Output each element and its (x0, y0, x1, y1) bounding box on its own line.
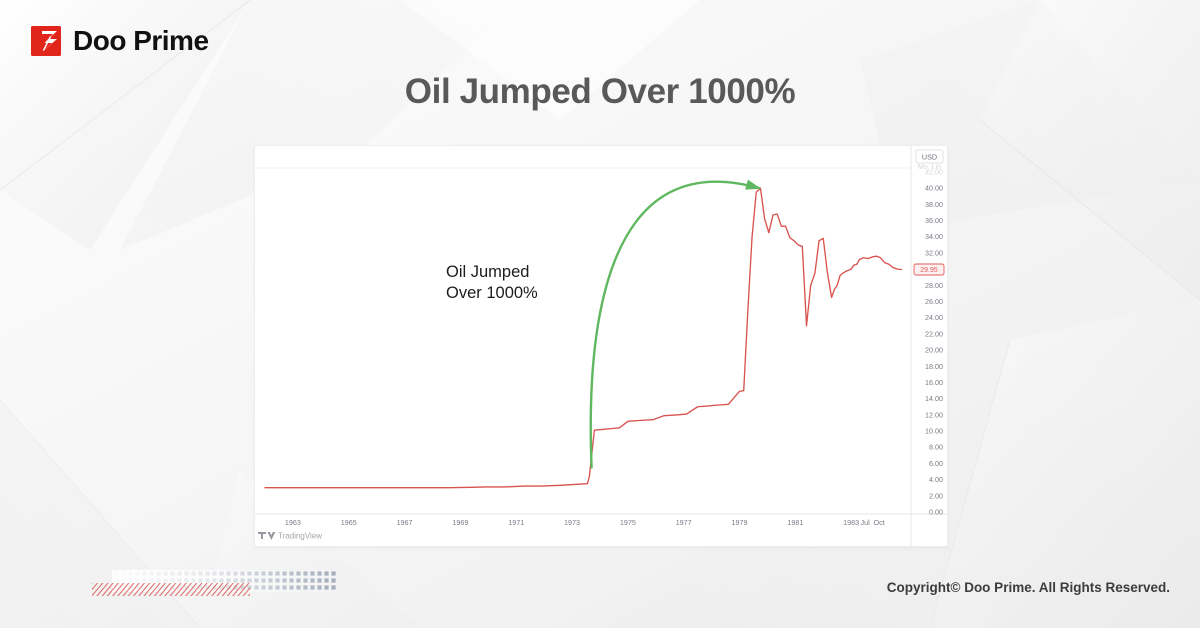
annotation-line-2: Over 1000% (446, 284, 538, 302)
time-axis-tick-label: 1963 (285, 518, 301, 527)
price-axis-tick-label: 6.00 (929, 459, 943, 468)
time-axis-tick-label: 1973 (564, 518, 580, 527)
copyright-notice: Copyright© Doo Prime. All Rights Reserve… (887, 580, 1170, 595)
price-axis-tick-label: 0.00 (929, 508, 943, 517)
price-axis-tick-label: 10.00 (925, 427, 943, 436)
time-axis-tick-label: 1967 (397, 518, 413, 527)
tradingview-label: TradingView (278, 532, 322, 541)
time-axis-tick-label: 1977 (676, 518, 692, 527)
price-axis-tick-label: 4.00 (929, 475, 943, 484)
price-axis-tick-label: 34.00 (925, 232, 943, 241)
current-price-value: 29.95 (920, 267, 938, 274)
price-axis-unit-label: USD (922, 153, 937, 162)
price-axis-tick-label: 8.00 (929, 443, 943, 452)
current-price-tag: 29.95 (914, 264, 944, 275)
price-axis-tick-label: 28.00 (925, 281, 943, 290)
time-axis-tick-label: 1965 (341, 518, 357, 527)
chart-card: USD Mo, Lin 0.002.004.006.008.0010.0012.… (254, 145, 948, 547)
brand-logo: Doo Prime (30, 24, 209, 58)
price-axis-tick-label: 16.00 (925, 378, 943, 387)
time-axis-tick-label: 1971 (508, 518, 524, 527)
price-axis-tick-label: 22.00 (925, 329, 943, 338)
footer-decoration (92, 570, 337, 602)
doo-prime-flag-icon (30, 24, 64, 58)
time-axis-tick-label: 1979 (732, 518, 748, 527)
price-axis-tick-label: 36.00 (925, 216, 943, 225)
price-axis-tick-label: 32.00 (925, 248, 943, 257)
time-axis-tick-label: Oct (873, 518, 884, 527)
price-axis-tick-label: 14.00 (925, 394, 943, 403)
brand-name: Doo Prime (73, 27, 209, 55)
time-axis-tick-label: 1975 (620, 518, 636, 527)
price-axis-tick-label: 26.00 (925, 297, 943, 306)
oil-price-line-chart: USD Mo, Lin 0.002.004.006.008.0010.0012.… (255, 146, 947, 546)
price-axis-tick-label-faint: 42.00 (925, 167, 943, 176)
price-axis-tick-label: 38.00 (925, 200, 943, 209)
time-axis-tick-label: 1969 (452, 518, 468, 527)
price-axis-tick-label: 20.00 (925, 346, 943, 355)
price-axis-tick-label: 18.00 (925, 362, 943, 371)
time-axis-tick-label: 1983 (843, 518, 859, 527)
page-title: Oil Jumped Over 1000% (0, 72, 1200, 112)
time-axis-tick-label: 1981 (787, 518, 803, 527)
annotation-line-1: Oil Jumped (446, 263, 529, 281)
price-axis-tick-label: 2.00 (929, 491, 943, 500)
price-axis-tick-label: 24.00 (925, 313, 943, 322)
time-axis-tick-label: Jul (861, 518, 871, 527)
footer-hatch-bar (92, 583, 250, 596)
price-axis-tick-label: 40.00 (925, 184, 943, 193)
price-axis-tick-label: 12.00 (925, 410, 943, 419)
